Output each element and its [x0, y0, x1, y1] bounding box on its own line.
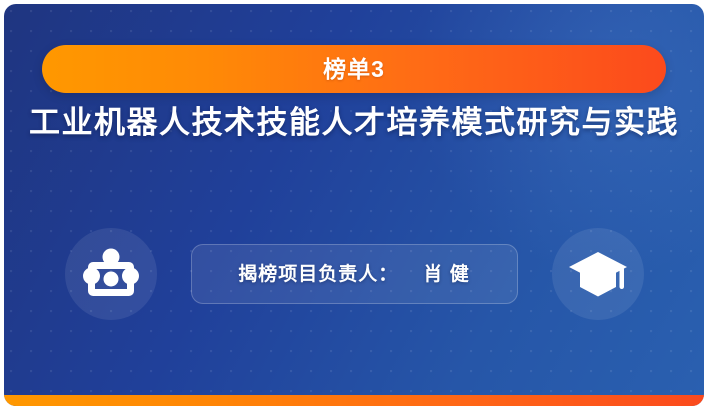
robot-icon — [81, 246, 141, 302]
ranking-card: 榜单3 工业机器人技术技能人才培养模式研究与实践 揭榜项目负 — [4, 4, 704, 406]
robot-icon-badge — [65, 228, 157, 320]
project-leader-pill: 揭榜项目负责人： 肖 健 — [191, 244, 518, 304]
middle-row: 揭榜项目负责人： 肖 健 — [4, 212, 704, 336]
project-leader-text: 揭榜项目负责人： 肖 健 — [238, 265, 469, 284]
project-title: 工业机器人技术技能人才培养模式研究与实践 — [4, 104, 704, 143]
ranking-badge-label: 榜单3 — [323, 58, 385, 81]
graduation-cap-icon-badge — [552, 228, 644, 320]
bottom-accent-bar — [4, 395, 704, 406]
graduation-cap-icon — [567, 246, 629, 302]
ranking-badge: 榜单3 — [42, 45, 666, 93]
